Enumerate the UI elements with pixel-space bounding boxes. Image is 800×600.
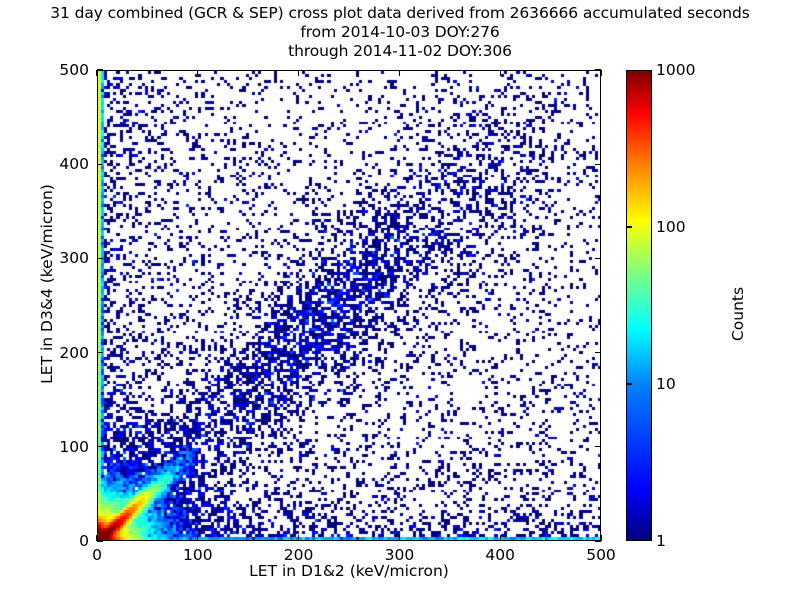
y-tick-right-100	[595, 446, 601, 447]
scatter-density-plot[interactable]	[98, 71, 601, 541]
y-ticklabel-400: 400	[20, 155, 89, 173]
colorbar-ticklabel-100: 100	[656, 218, 686, 236]
y-tick-0	[97, 540, 103, 541]
plot-title: 31 day combined (GCR & SEP) cross plot d…	[0, 4, 800, 61]
figure-canvas: 31 day combined (GCR & SEP) cross plot d…	[0, 0, 800, 600]
y-ticklabel-0: 0	[20, 532, 89, 550]
colorbar-ticklabel-1000: 1000	[656, 61, 695, 79]
y-axis-label: LET in D3&4 (keV/micron)	[38, 174, 56, 394]
colorbar-ticklabel-1: 1	[656, 532, 666, 550]
y-tick-right-0	[595, 540, 601, 541]
x-tick-top-300	[399, 70, 400, 76]
y-tick-right-200	[595, 352, 601, 353]
x-tick-400	[500, 535, 501, 541]
colorbar-ticklabel-10: 10	[656, 375, 676, 393]
title-line-2: from 2014-10-03 DOY:276	[0, 23, 800, 42]
x-tick-100	[197, 535, 198, 541]
colorbar-label: Counts	[729, 204, 747, 424]
y-tick-right-500	[595, 69, 601, 70]
main-axes[interactable]	[97, 70, 601, 541]
y-ticklabel-500: 500	[20, 61, 89, 79]
y-tick-right-400	[595, 164, 601, 165]
y-tick-100	[97, 446, 103, 447]
y-tick-200	[97, 352, 103, 353]
colorbar-tick-100	[626, 226, 632, 227]
y-tick-right-300	[595, 258, 601, 259]
colorbar-tick-10	[626, 383, 632, 384]
x-tick-top-200	[298, 70, 299, 76]
y-tick-400	[97, 164, 103, 165]
x-tick-top-0	[96, 70, 97, 76]
x-axis-label: LET in D1&2 (keV/micron)	[97, 562, 601, 580]
y-ticklabel-100: 100	[20, 438, 89, 456]
title-line-3: through 2014-11-02 DOY:306	[0, 42, 800, 61]
x-tick-200	[298, 535, 299, 541]
colorbar[interactable]	[626, 70, 652, 541]
x-tick-top-500	[600, 70, 601, 76]
x-tick-top-400	[500, 70, 501, 76]
y-tick-500	[97, 69, 103, 70]
title-line-1: 31 day combined (GCR & SEP) cross plot d…	[0, 4, 800, 23]
y-tick-300	[97, 258, 103, 259]
x-tick-300	[399, 535, 400, 541]
x-tick-top-100	[197, 70, 198, 76]
